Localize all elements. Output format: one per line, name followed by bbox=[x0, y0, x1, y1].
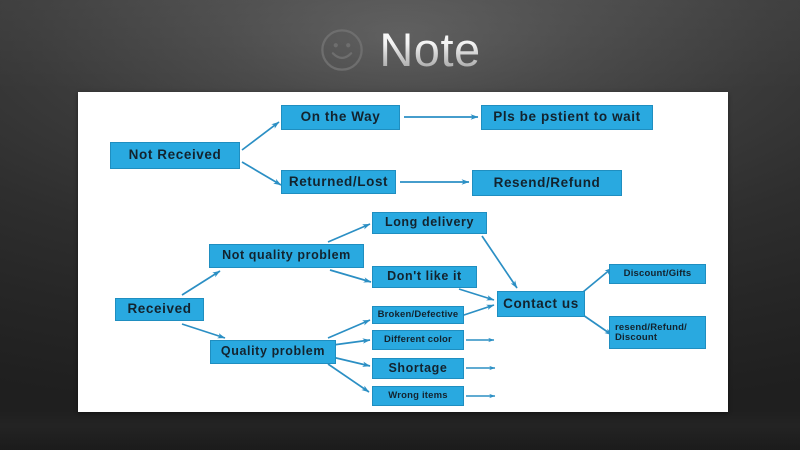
node-contact-us[interactable]: Contact us bbox=[497, 291, 585, 317]
node-broken-defective[interactable]: Broken/Defective bbox=[372, 306, 464, 324]
node-different-color[interactable]: Different color bbox=[372, 330, 464, 350]
node-wrong-items[interactable]: Wrong items bbox=[372, 386, 464, 406]
node-returned-lost[interactable]: Returned/Lost bbox=[281, 170, 396, 194]
node-quality-problem[interactable]: Quality problem bbox=[210, 340, 336, 364]
node-not-quality-problem[interactable]: Not quality problem bbox=[209, 244, 364, 268]
node-not-received[interactable]: Not Received bbox=[110, 142, 240, 169]
node-pls-be-patient-to-wait[interactable]: Pls be pstient to wait bbox=[481, 105, 653, 130]
node-received[interactable]: Received bbox=[115, 298, 204, 321]
node-dont-like-it[interactable]: Don't like it bbox=[372, 266, 477, 288]
page-title: Note bbox=[379, 26, 480, 73]
node-discount-gifts[interactable]: Discount/Gifts bbox=[609, 264, 706, 284]
node-long-delivery[interactable]: Long delivery bbox=[372, 212, 487, 234]
node-resend-refund-discount[interactable]: resend/Refund/ Discount bbox=[609, 316, 706, 349]
slide-canvas: Note bbox=[0, 0, 800, 450]
slide-title-row: Note bbox=[0, 14, 800, 84]
smiley-face-icon bbox=[319, 27, 365, 73]
node-on-the-way[interactable]: On the Way bbox=[281, 105, 400, 130]
node-shortage[interactable]: Shortage bbox=[372, 358, 464, 379]
node-resend-refund[interactable]: Resend/Refund bbox=[472, 170, 622, 196]
flowchart-panel: Not Received On the Way Pls be pstient t… bbox=[78, 92, 728, 412]
